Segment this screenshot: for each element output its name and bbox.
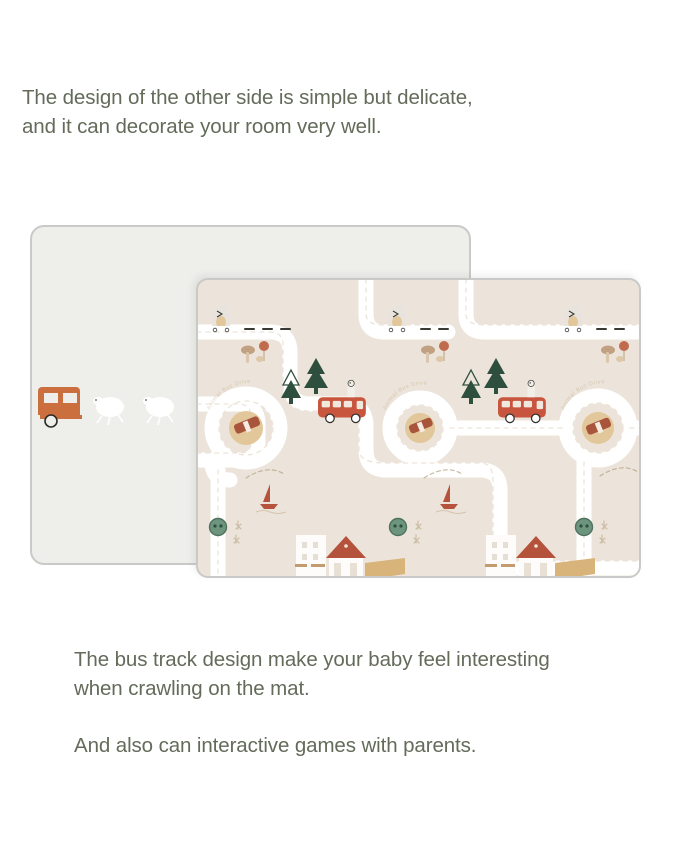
pine-tree-icon-outline-2 [461, 370, 481, 404]
sheep-left-icon [93, 397, 124, 425]
house-group-icon-1 [295, 535, 405, 578]
mushroom-cluster-icon-1 [241, 341, 269, 363]
green-medallion-icon-1 [210, 519, 227, 536]
roundabout-island-left [229, 411, 263, 445]
footer-paragraph-2: And also can interactive games with pare… [74, 731, 674, 760]
tunnel-cart-icon-3 [562, 305, 584, 332]
sheep-right-icon [143, 397, 174, 425]
headline-paragraph: The design of the other side is simple b… [22, 83, 662, 141]
green-medallion-icon-3 [576, 519, 593, 536]
green-medallion-icon-2 [390, 519, 407, 536]
play-mat-front-side: Animal Bus Drive Animal Bus Drive Animal… [196, 278, 641, 578]
pine-tree-icon-filled-2 [484, 358, 508, 394]
sailboat-icon-2 [436, 484, 466, 514]
mushroom-cluster-icon-3 [601, 341, 629, 363]
sparkle-tufts [234, 521, 607, 543]
pine-tree-icon-filled-1 [304, 358, 328, 394]
orange-van-icon [38, 387, 82, 427]
tunnel-cart-icon-1 [210, 305, 232, 332]
mushroom-cluster-icon-2 [421, 341, 449, 363]
sailboat-icon-1 [256, 484, 286, 514]
front-mat-scene: Animal Bus Drive Animal Bus Drive Animal… [198, 280, 641, 578]
roundabout-island-centre [405, 413, 435, 443]
product-image: Animal Bus Drive Animal Bus Drive Animal… [0, 195, 679, 605]
tunnel-cart-icon-2 [386, 305, 408, 332]
roundabout-island-right [582, 412, 614, 444]
footer-paragraph-1: The bus track design make your baby feel… [74, 645, 674, 703]
